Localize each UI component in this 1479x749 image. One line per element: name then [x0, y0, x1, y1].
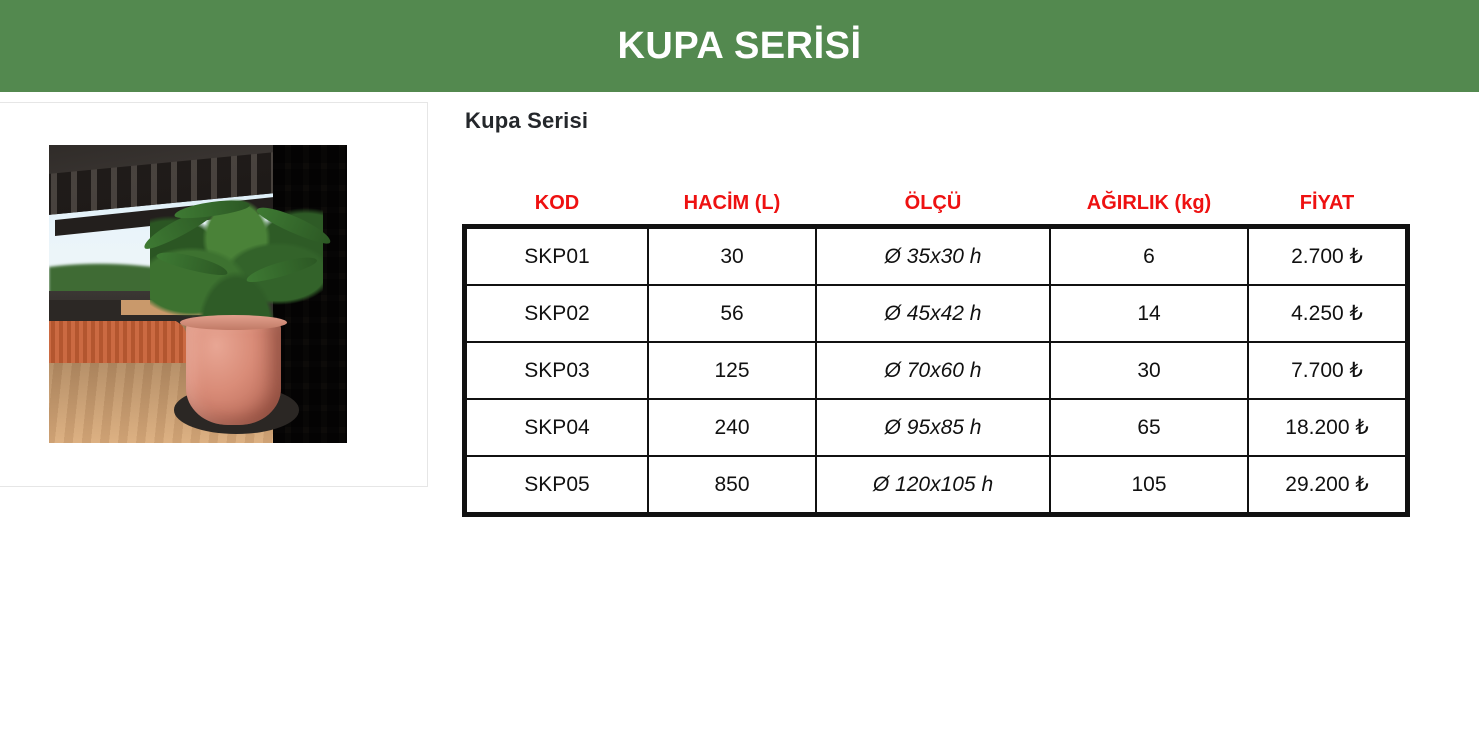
cell-agirlik: 14 [1050, 285, 1248, 342]
cell-olcu: Ø 95x85 h [816, 399, 1050, 456]
table-body: SKP01 30 Ø 35x30 h 6 2.700 ₺ SKP02 56 Ø … [466, 228, 1406, 513]
cell-olcu: Ø 120x105 h [816, 456, 1050, 513]
cell-fiyat: 7.700 ₺ [1248, 342, 1406, 399]
photo-palm-frond [155, 248, 229, 279]
photo-palm-frond [173, 196, 250, 221]
specification-table: KOD HACİM (L) ÖLÇÜ AĞIRLIK (kg) FİYAT SK… [465, 192, 1407, 514]
column-header-fiyat: FİYAT [1248, 192, 1406, 228]
product-image-card[interactable] [0, 102, 428, 487]
photo-palm-frond [245, 252, 319, 286]
page-title: KUPA SERİSİ [617, 27, 861, 65]
table-header-row-group: KOD HACİM (L) ÖLÇÜ AĞIRLIK (kg) FİYAT [466, 192, 1406, 228]
column-header-agirlik: AĞIRLIK (kg) [1050, 192, 1248, 228]
cell-olcu: Ø 35x30 h [816, 228, 1050, 285]
cell-agirlik: 6 [1050, 228, 1248, 285]
photo-pot-rim [180, 315, 287, 330]
cell-agirlik: 30 [1050, 342, 1248, 399]
table-row: SKP01 30 Ø 35x30 h 6 2.700 ₺ [466, 228, 1406, 285]
cell-fiyat: 4.250 ₺ [1248, 285, 1406, 342]
table-header-row: KOD HACİM (L) ÖLÇÜ AĞIRLIK (kg) FİYAT [466, 192, 1406, 228]
cell-fiyat: 2.700 ₺ [1248, 228, 1406, 285]
cell-hacim: 125 [648, 342, 816, 399]
cell-agirlik: 65 [1050, 399, 1248, 456]
column-header-kod: KOD [466, 192, 648, 228]
table-row: SKP03 125 Ø 70x60 h 30 7.700 ₺ [466, 342, 1406, 399]
cell-olcu: Ø 70x60 h [816, 342, 1050, 399]
cell-hacim: 850 [648, 456, 816, 513]
table-row: SKP02 56 Ø 45x42 h 14 4.250 ₺ [466, 285, 1406, 342]
cell-kod: SKP02 [466, 285, 648, 342]
table-row: SKP04 240 Ø 95x85 h 65 18.200 ₺ [466, 399, 1406, 456]
column-header-hacim: HACİM (L) [648, 192, 816, 228]
product-photo [49, 145, 347, 443]
photo-terracotta-pot [186, 318, 281, 425]
cell-hacim: 240 [648, 399, 816, 456]
cell-kod: SKP03 [466, 342, 648, 399]
cell-agirlik: 105 [1050, 456, 1248, 513]
table-row: SKP05 850 Ø 120x105 h 105 29.200 ₺ [466, 456, 1406, 513]
spec-table-container: KOD HACİM (L) ÖLÇÜ AĞIRLIK (kg) FİYAT SK… [465, 192, 1425, 514]
cell-fiyat: 18.200 ₺ [1248, 399, 1406, 456]
cell-fiyat: 29.200 ₺ [1248, 456, 1406, 513]
photo-palm-frond [254, 201, 333, 248]
cell-olcu: Ø 45x42 h [816, 285, 1050, 342]
cell-hacim: 30 [648, 228, 816, 285]
product-details-column: Kupa Serisi KOD HACİM (L) ÖLÇÜ AĞIRLIK (… [465, 92, 1425, 514]
cell-kod: SKP04 [466, 399, 648, 456]
column-header-olcu: ÖLÇÜ [816, 192, 1050, 228]
cell-kod: SKP01 [466, 228, 648, 285]
series-title: Kupa Serisi [465, 92, 1425, 134]
cell-hacim: 56 [648, 285, 816, 342]
page-header-bar: KUPA SERİSİ [0, 0, 1479, 92]
cell-kod: SKP05 [466, 456, 648, 513]
page-content: Kupa Serisi KOD HACİM (L) ÖLÇÜ AĞIRLIK (… [0, 92, 1479, 749]
